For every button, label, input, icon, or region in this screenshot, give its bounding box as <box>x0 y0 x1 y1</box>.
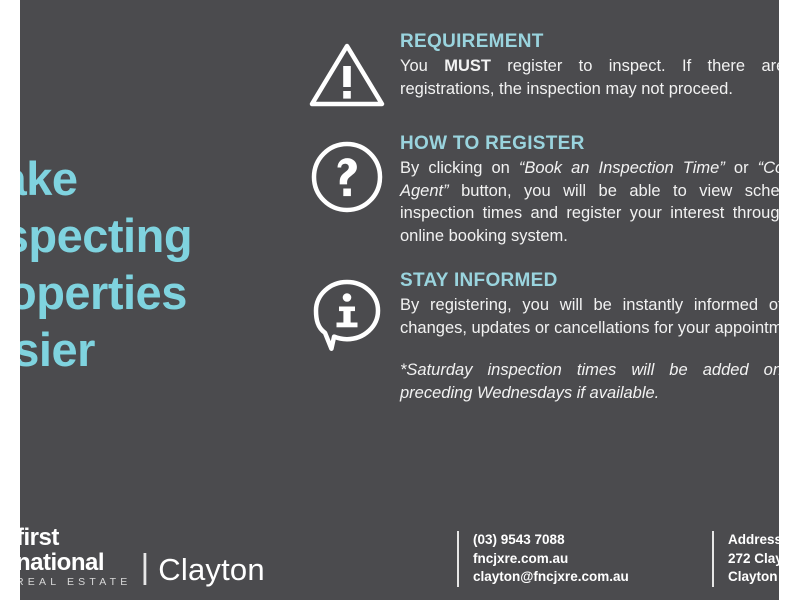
poster-panel: Make inspecting properties easier REQUIR… <box>20 0 779 600</box>
info-speech-bubble-icon <box>306 273 388 355</box>
contact-email[interactable]: clayton@fncjxre.com.au <box>473 568 629 587</box>
body-text-lead: You <box>400 57 444 75</box>
section-title: REQUIREMENT <box>400 30 779 54</box>
body-text-part2: or <box>725 159 758 177</box>
section-body: By registering, you will be instantly in… <box>400 294 779 339</box>
brand-separator: | <box>140 547 149 587</box>
headline-line-4: easier <box>20 321 292 378</box>
contact-website[interactable]: fncjxre.com.au <box>473 550 629 569</box>
poster-canvas: Make inspecting properties easier REQUIR… <box>0 0 800 600</box>
footer-address: Address: 272 Clayton Road Clayton VIC 31… <box>712 531 779 587</box>
footer: first national REAL ESTATE | Clayton (03… <box>20 504 779 600</box>
body-text-quote1: “Book an Inspection Time” <box>519 159 725 177</box>
brand-word-first: first <box>20 526 131 550</box>
body-text-part1: By clicking on <box>400 159 519 177</box>
headline-line-1: Make <box>20 150 292 207</box>
brand-logo: first national REAL ESTATE | Clayton <box>20 526 265 589</box>
headline-line-2: inspecting <box>20 207 292 264</box>
brand-office-name: Clayton <box>158 551 265 589</box>
brand-logo-firstnational: first national REAL ESTATE <box>20 526 131 589</box>
section-body: You MUST register to inspect. If there a… <box>400 55 779 100</box>
contact-phone[interactable]: (03) 9543 7088 <box>473 531 629 550</box>
headline: Make inspecting properties easier <box>20 150 292 378</box>
address-line-2: Clayton VIC 3168 <box>728 568 779 587</box>
warning-triangle-icon <box>306 34 388 116</box>
address-line-1: 272 Clayton Road <box>728 550 779 569</box>
footer-contact-details: (03) 9543 7088 fncjxre.com.au clayton@fn… <box>457 531 629 587</box>
brand-tagline: REAL ESTATE <box>20 575 131 589</box>
information-blocks: REQUIREMENT You MUST register to inspect… <box>298 30 779 426</box>
brand-word-national: national <box>20 550 131 575</box>
body-text-part3: button, you will be able to view schedul… <box>400 182 779 245</box>
section-title: HOW TO REGISTER <box>400 132 779 156</box>
section-stay-informed: STAY INFORMED By registering, you will b… <box>298 269 779 404</box>
footnote-saturday-times: *Saturday inspection times will be added… <box>400 359 779 404</box>
section-requirement: REQUIREMENT You MUST register to inspect… <box>298 30 779 110</box>
headline-line-3: properties <box>20 264 292 321</box>
body-text-emphasis: MUST <box>444 57 491 75</box>
question-mark-circle-icon <box>306 136 388 218</box>
address-label: Address: <box>728 531 779 550</box>
section-how-to-register: HOW TO REGISTER By clicking on “Book an … <box>298 132 779 247</box>
section-title: STAY INFORMED <box>400 269 779 293</box>
section-body: By clicking on “Book an Inspection Time”… <box>400 157 779 247</box>
